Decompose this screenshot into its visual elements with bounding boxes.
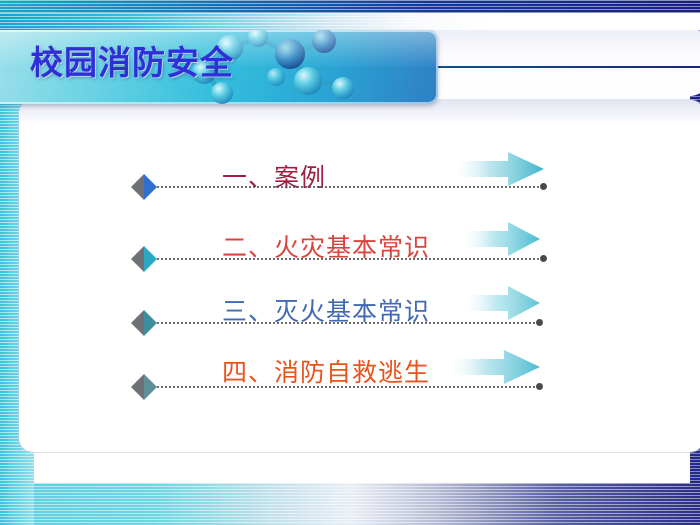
diamond-bullet-icon	[131, 374, 157, 400]
diamond-bullet-icon	[131, 246, 157, 272]
list-item-label: 四、消防自救逃生	[222, 353, 430, 389]
dotted-rule-end-dot	[540, 255, 547, 262]
page-title: 校园消防安全	[30, 36, 234, 84]
arrow-icon	[448, 350, 540, 384]
dotted-rule-end-dot	[536, 383, 543, 390]
list-item[interactable]: 四、消防自救逃生	[0, 348, 700, 420]
arrow-icon	[462, 286, 540, 320]
diamond-bullet-icon	[131, 310, 157, 336]
dotted-rule	[156, 186, 544, 188]
dotted-rule	[156, 322, 540, 324]
dotted-rule	[156, 386, 540, 388]
arrow-icon	[452, 152, 544, 186]
diamond-bullet-icon	[131, 174, 157, 200]
list-item[interactable]: 一、案例	[0, 152, 700, 224]
dotted-rule	[156, 258, 544, 260]
list-item[interactable]: 二、火灾基本常识	[0, 222, 700, 294]
presentation-slide: 校园消防安全 一、案例	[0, 0, 700, 525]
dotted-rule-end-dot	[536, 319, 543, 326]
arrow-icon	[460, 222, 540, 256]
dotted-rule-end-dot	[540, 183, 547, 190]
list-item-label: 一、案例	[222, 158, 326, 194]
